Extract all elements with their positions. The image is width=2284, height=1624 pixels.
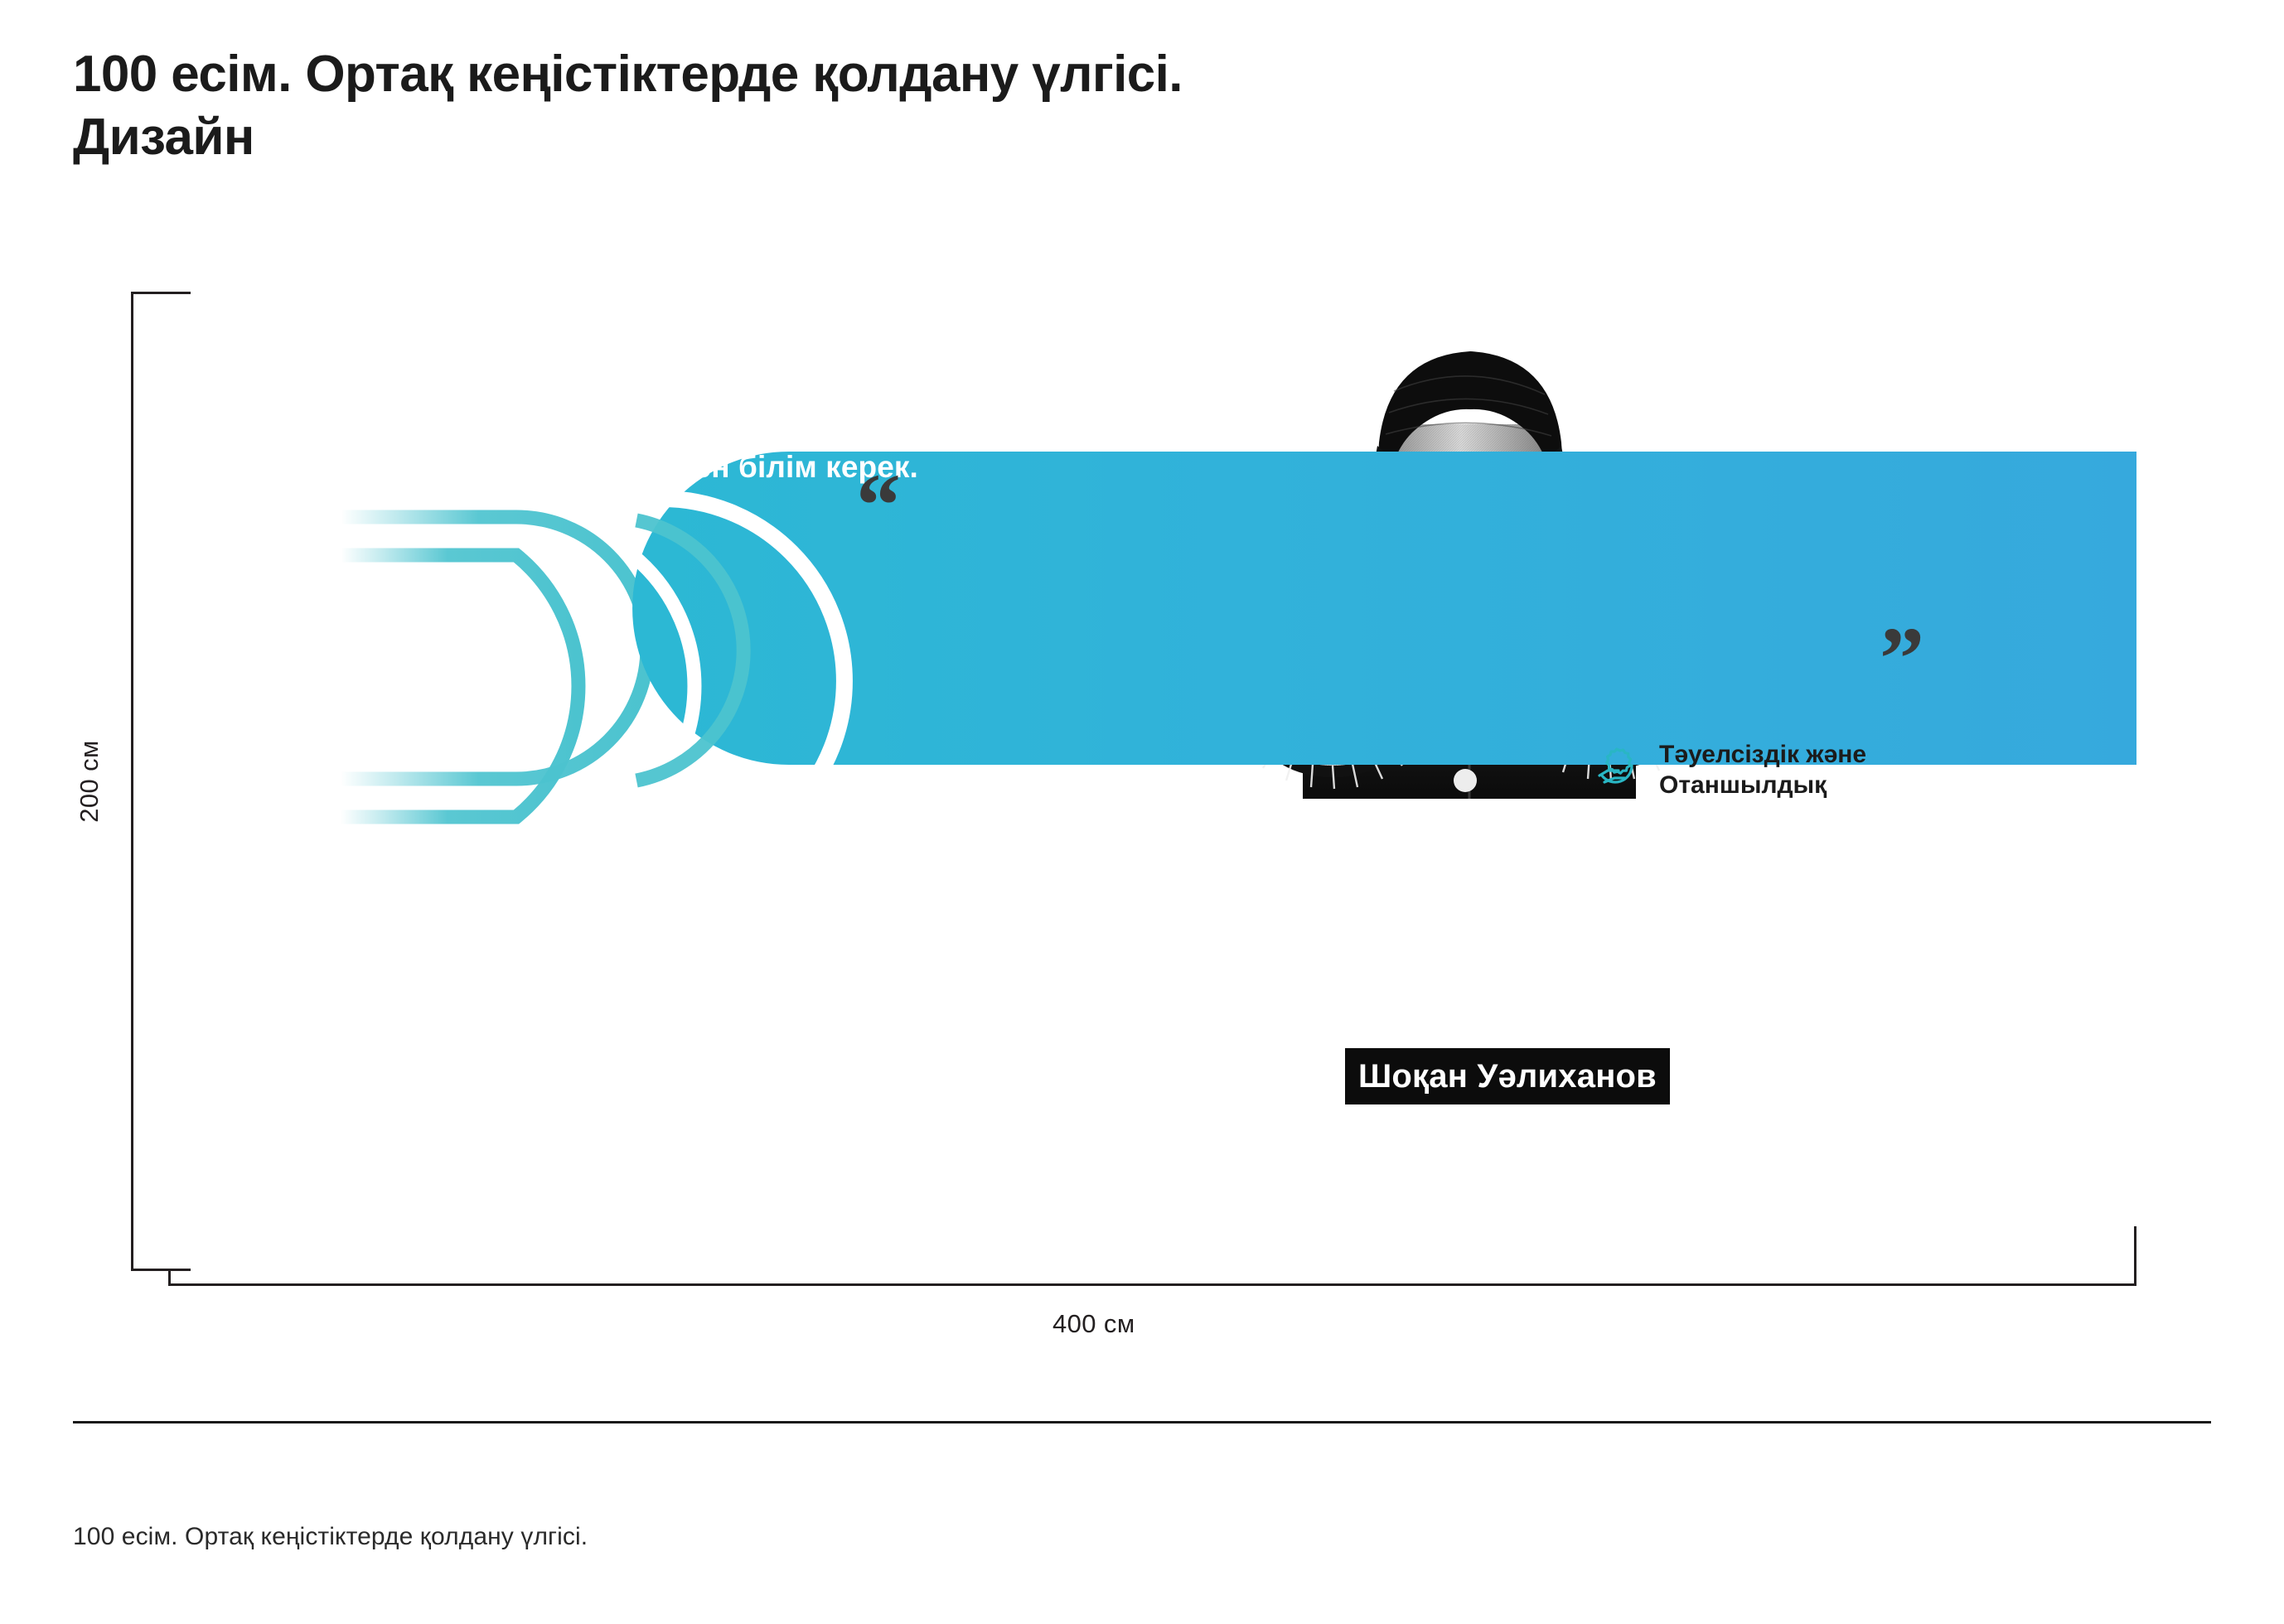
- quote-mark-open-icon: “: [856, 462, 901, 551]
- page-title: 100 есім. Ортақ кеңістіктерде қолдану үл…: [73, 43, 1565, 168]
- width-dimension-label: 400 см: [1052, 1309, 1135, 1339]
- footer-caption: 100 есім. Ортақ кеңістіктерде қолдану үл…: [73, 1523, 588, 1551]
- quote-text: Халықтың кемеліне келіп өркендеуі үшін, …: [400, 363, 1063, 488]
- quote-mark-close-icon: ”: [1880, 615, 1924, 704]
- person-name-plate: Шоқан Уәлиханов: [1345, 1048, 1670, 1104]
- height-dimension-label: 200 см: [75, 682, 104, 881]
- person-name-label: Шоқан Уәлиханов: [1358, 1058, 1657, 1095]
- banner-artwork: “ ” Халықтың кемеліне келіп өркендеуі үш…: [168, 292, 2136, 1269]
- width-dimension-line: [168, 1283, 2136, 1286]
- page-title-line-2: Дизайн: [73, 106, 1565, 169]
- page-title-line-1: 100 есім. Ортақ кеңістіктерде қолдану үл…: [73, 43, 1565, 106]
- height-dimension-line: [131, 292, 133, 1271]
- quote-content: Халықтың кемеліне келіп өркендеуі үшін, …: [400, 315, 1063, 488]
- value-badge-label: Тәуелсіздік және Отаншылдық: [1659, 739, 1866, 800]
- width-tick-left: [168, 1269, 171, 1286]
- value-badge: Тәуелсіздік және Отаншылдық: [1590, 739, 1866, 800]
- flower-in-hand-icon: [1590, 742, 1644, 797]
- footer-divider: [73, 1421, 2211, 1423]
